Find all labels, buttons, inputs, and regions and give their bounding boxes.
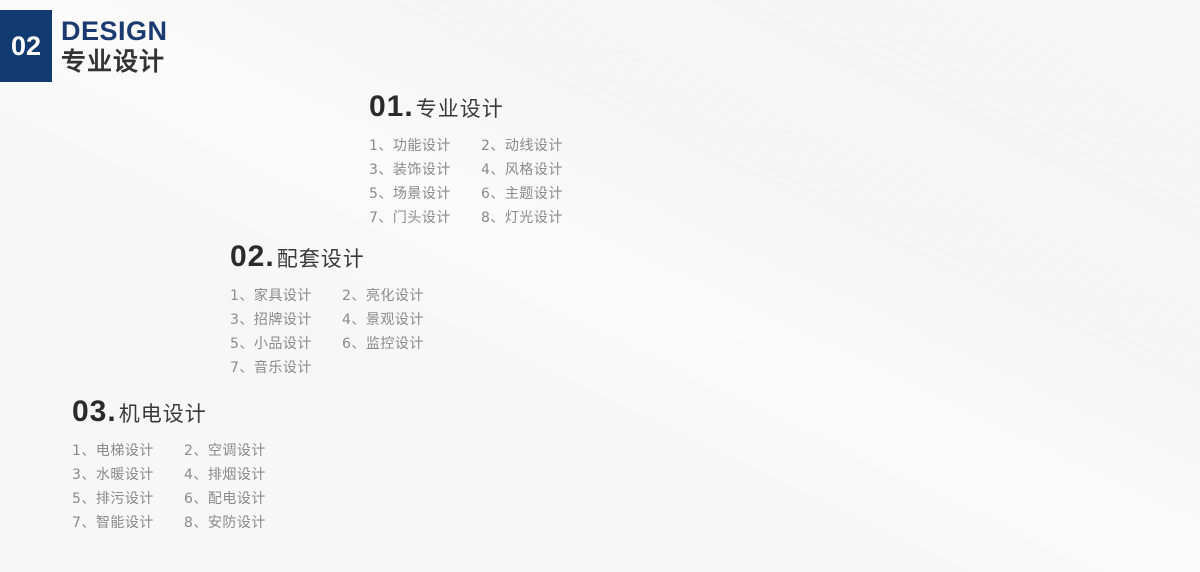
list-item: 1、功能设计: [369, 134, 481, 158]
section-03-number: 03.: [72, 395, 117, 429]
list-item: 4、排烟设计: [184, 463, 266, 487]
list-item: 1、家具设计: [230, 284, 342, 308]
list-item: 3、装饰设计: [369, 158, 481, 182]
list-item: 2、动线设计: [481, 134, 563, 158]
section-number-badge: 02: [0, 10, 52, 82]
slide-header: 02 DESIGN 专业设计: [0, 10, 168, 82]
list-item: 5、排污设计: [72, 487, 184, 511]
list-item: 5、小品设计: [230, 332, 342, 356]
list-row: 5、小品设计 6、监控设计: [230, 332, 424, 356]
list-row: 7、门头设计 8、灯光设计: [369, 206, 563, 230]
list-item: 6、监控设计: [342, 332, 424, 356]
section-01-list: 1、功能设计 2、动线设计 3、装饰设计 4、风格设计 5、场景设计 6、主题设…: [369, 134, 563, 230]
list-row: 7、音乐设计: [230, 356, 424, 380]
list-item: 6、配电设计: [184, 487, 266, 511]
section-02-number: 02.: [230, 240, 275, 274]
list-row: 3、水暖设计 4、排烟设计: [72, 463, 266, 487]
list-item: 4、景观设计: [342, 308, 424, 332]
title-block: DESIGN 专业设计: [61, 10, 168, 82]
list-item: 4、风格设计: [481, 158, 563, 182]
content-section-02: 02. 配套设计 1、家具设计 2、亮化设计 3、招牌设计 4、景观设计 5、小…: [230, 240, 424, 380]
list-item: 7、门头设计: [369, 206, 481, 230]
page-title-english: DESIGN: [61, 18, 168, 45]
content-section-03: 03. 机电设计 1、电梯设计 2、空调设计 3、水暖设计 4、排烟设计 5、排…: [72, 395, 266, 535]
list-row: 1、功能设计 2、动线设计: [369, 134, 563, 158]
list-row: 7、智能设计 8、安防设计: [72, 511, 266, 535]
section-01-number: 01.: [369, 90, 414, 124]
section-03-title: 机电设计: [119, 398, 207, 428]
list-row: 3、装饰设计 4、风格设计: [369, 158, 563, 182]
list-item: 2、亮化设计: [342, 284, 424, 308]
section-03-heading: 03. 机电设计: [72, 395, 266, 429]
list-item: 2、空调设计: [184, 439, 266, 463]
list-row: 5、排污设计 6、配电设计: [72, 487, 266, 511]
list-item: 1、电梯设计: [72, 439, 184, 463]
list-item: 3、水暖设计: [72, 463, 184, 487]
section-02-title: 配套设计: [277, 243, 365, 273]
section-01-heading: 01. 专业设计: [369, 90, 563, 124]
list-item: 8、安防设计: [184, 511, 266, 535]
list-item: 3、招牌设计: [230, 308, 342, 332]
section-01-title: 专业设计: [416, 93, 504, 123]
list-row: 1、电梯设计 2、空调设计: [72, 439, 266, 463]
list-row: 1、家具设计 2、亮化设计: [230, 284, 424, 308]
content-section-01: 01. 专业设计 1、功能设计 2、动线设计 3、装饰设计 4、风格设计 5、场…: [369, 90, 563, 230]
section-03-list: 1、电梯设计 2、空调设计 3、水暖设计 4、排烟设计 5、排污设计 6、配电设…: [72, 439, 266, 535]
list-item: 6、主题设计: [481, 182, 563, 206]
list-item: 5、场景设计: [369, 182, 481, 206]
page-title-chinese: 专业设计: [61, 47, 168, 77]
list-row: 5、场景设计 6、主题设计: [369, 182, 563, 206]
list-item: 7、音乐设计: [230, 356, 342, 380]
slide-canvas: 02 DESIGN 专业设计 01. 专业设计 1、功能设计 2、动线设计 3、…: [0, 0, 1200, 572]
list-item: 7、智能设计: [72, 511, 184, 535]
list-item: 8、灯光设计: [481, 206, 563, 230]
section-02-heading: 02. 配套设计: [230, 240, 424, 274]
list-row: 3、招牌设计 4、景观设计: [230, 308, 424, 332]
section-02-list: 1、家具设计 2、亮化设计 3、招牌设计 4、景观设计 5、小品设计 6、监控设…: [230, 284, 424, 380]
